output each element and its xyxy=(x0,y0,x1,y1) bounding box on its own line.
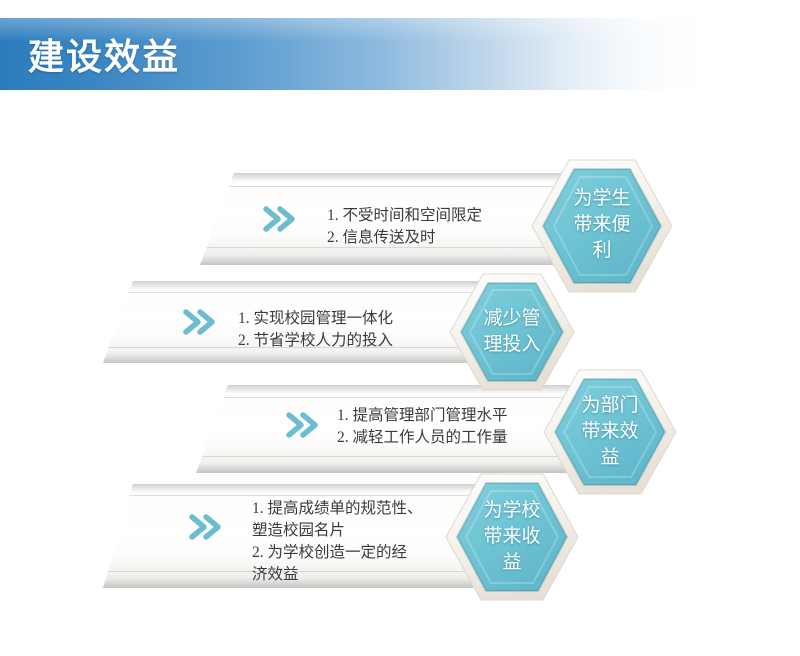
double-chevron-right-icon xyxy=(262,204,302,234)
slide-canvas: 建设效益 1. 不受时间和空间限定 2. 信息传送及时 1. 实现校园管理一体化… xyxy=(0,0,800,656)
hexagon-benefit-4[interactable]: 为学校 带来收 益 xyxy=(442,470,582,604)
row-3-text: 1. 提高管理部门管理水平 2. 减轻工作人员的工作量 xyxy=(337,405,508,449)
row-1-text: 1. 不受时间和空间限定 2. 信息传送及时 xyxy=(327,205,482,249)
double-chevron-right-icon xyxy=(285,410,325,440)
page-title: 建设效益 xyxy=(28,28,180,80)
ribbon-top-shade xyxy=(103,281,503,290)
row-2-text: 1. 实现校园管理一体化 2. 节省学校人力的投入 xyxy=(238,308,393,352)
row-4-text: 1. 提高成绩单的规范性、 塑造校园名片 2. 为学校创造一定的经 济效益 xyxy=(252,498,423,586)
ribbon-divider xyxy=(103,292,503,293)
ribbon-bottom-shade xyxy=(103,353,503,363)
double-chevron-right-icon xyxy=(182,307,222,337)
double-chevron-right-icon xyxy=(188,512,228,542)
